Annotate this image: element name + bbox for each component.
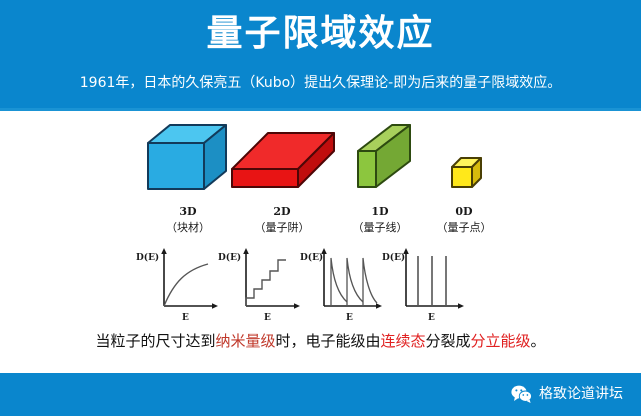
content-area: 3D （块材） 2D （量子阱）: [0, 111, 641, 373]
caption-text: 当粒子的尺寸达到纳米量级时，电子能级由连续态分裂成分立能级。: [0, 329, 641, 353]
graph-1d-density-of-states: D(E) E: [298, 244, 384, 326]
footer-banner: 格致论道讲坛: [0, 373, 641, 416]
graph-0d-density-of-states: D(E) E: [380, 244, 466, 326]
wechat-icon: [511, 385, 532, 403]
graph-2d-density-of-states: D(E) E: [216, 244, 302, 326]
caption-highlight-continuum: 连续态: [380, 332, 425, 350]
caption-part-2: 时，电子能级由: [275, 332, 380, 350]
graph-ylabel: D(E): [300, 252, 323, 263]
graphs-row: D(E) E D(E) E: [0, 244, 641, 326]
footer-brand: 格致论道讲坛: [511, 384, 623, 404]
caption-highlight-discrete: 分立能级: [471, 332, 531, 350]
graph-xlabel: E: [428, 313, 435, 323]
graph-ylabel: D(E): [382, 252, 405, 263]
caption-highlight-nanoscale: 纳米量级: [215, 332, 275, 350]
page-subtitle: 1961年，日本的久保亮五（Kubo）提出久保理论-即为后来的量子限域效应。: [0, 72, 641, 94]
shapes-row: 3D （块材） 2D （量子阱）: [0, 111, 641, 246]
graph-ylabel: D(E): [136, 252, 159, 263]
dot-0d-yellow-icon: [404, 111, 524, 203]
caption-part-1: 当粒子的尺寸达到: [95, 332, 215, 350]
graph-xlabel: E: [346, 313, 353, 323]
slide-root: 量子限域效应 1961年，日本的久保亮五（Kubo）提出久保理论-即为后来的量子…: [0, 0, 641, 416]
shape-dimension-label: 0D: [404, 205, 524, 218]
graph-xlabel: E: [182, 313, 189, 323]
shape-name-label: （量子点）: [404, 221, 524, 235]
shape-cell-0d: 0D （量子点）: [404, 111, 524, 246]
graph-3d-density-of-states: D(E) E: [134, 244, 220, 326]
caption-part-4: 。: [531, 332, 546, 350]
footer-brand-label: 格致论道讲坛: [539, 384, 623, 404]
page-title: 量子限域效应: [0, 10, 641, 58]
graph-xlabel: E: [264, 313, 271, 323]
caption-part-3: 分裂成: [426, 332, 471, 350]
graph-ylabel: D(E): [218, 252, 241, 263]
